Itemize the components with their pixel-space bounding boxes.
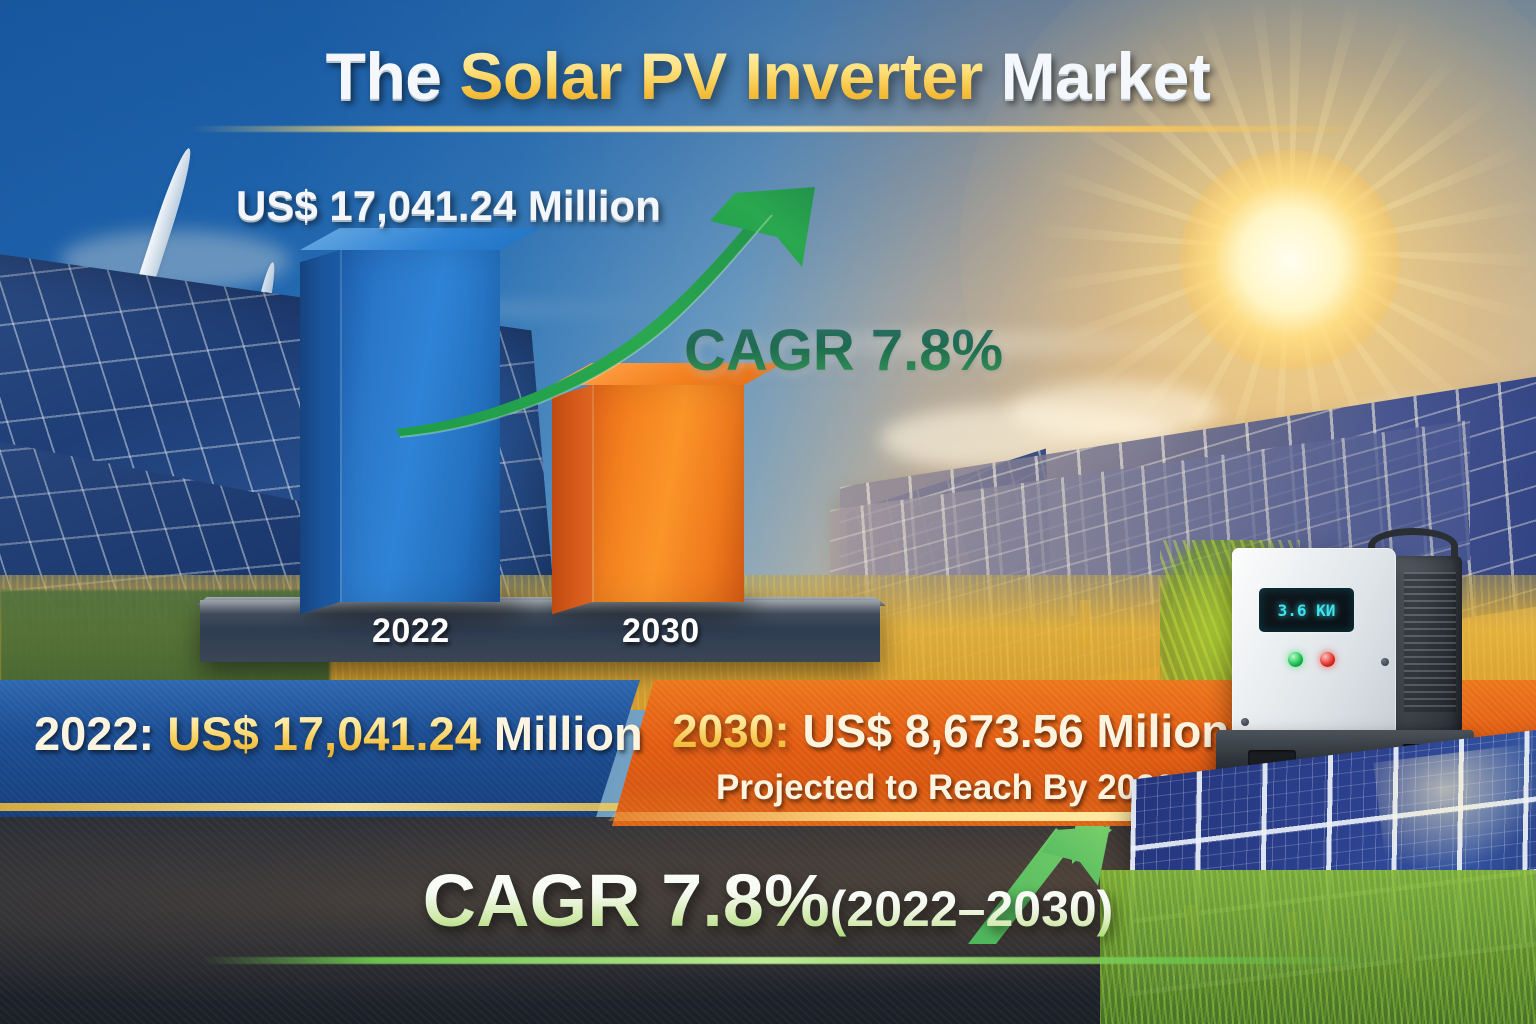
band-2030-value: US$ 8,673.56 bbox=[802, 705, 1083, 757]
inverter-display-screen: 3.6 KИ bbox=[1259, 588, 1354, 632]
footer-cagr-period: (2022–2030) bbox=[830, 881, 1114, 937]
band-2022-year: 2022: bbox=[34, 707, 154, 760]
footer-cagr-value: CAGR 7.8% bbox=[423, 859, 830, 942]
page-title: The Solar PV Inverter Market bbox=[0, 38, 1536, 114]
green-status-led-icon bbox=[1288, 652, 1303, 667]
bar-2022-value-label: US$ 17,041.24 Million bbox=[236, 182, 661, 230]
band-2030-subtitle: Projected to Reach By 2030 bbox=[716, 768, 1175, 808]
band-2030-year: 2030: bbox=[672, 705, 790, 757]
band-2030-text: 2030: US$ 8,673.56 Milion bbox=[672, 704, 1229, 758]
inverter-display-value: 3.6 KИ bbox=[1278, 601, 1336, 620]
solar-inverter-device bbox=[1232, 548, 1396, 734]
footer-cagr: CAGR 7.8%(2022–2030) bbox=[0, 858, 1536, 943]
infographic-canvas: The Solar PV Inverter Market US$ 17,041.… bbox=[0, 0, 1536, 1024]
bar-2022-side-face bbox=[300, 250, 340, 614]
band-2030-unit: Milion bbox=[1097, 705, 1230, 757]
title-underline bbox=[190, 126, 1370, 132]
band-2022-value: US$ 17,041.24 bbox=[167, 707, 481, 760]
footer-underline bbox=[200, 957, 1380, 964]
axis-label-2022: 2022 bbox=[372, 612, 450, 651]
cagr-callout: CAGR 7.8% bbox=[684, 317, 1003, 384]
inverter-screw bbox=[1241, 718, 1249, 726]
title-part-1: The bbox=[326, 39, 460, 113]
title-part-2: Market bbox=[983, 39, 1211, 113]
red-status-led-icon bbox=[1320, 652, 1335, 667]
title-highlight: Solar PV Inverter bbox=[459, 39, 982, 113]
band-2022-text: 2022: US$ 17,041.24 Million bbox=[34, 706, 643, 761]
inverter-screw bbox=[1381, 658, 1389, 666]
inverter-heatsink-fins bbox=[1404, 572, 1456, 712]
band-2022-unit: Million bbox=[494, 707, 643, 760]
axis-label-2030: 2030 bbox=[622, 612, 700, 651]
stat-band-2022-edge bbox=[0, 803, 640, 811]
